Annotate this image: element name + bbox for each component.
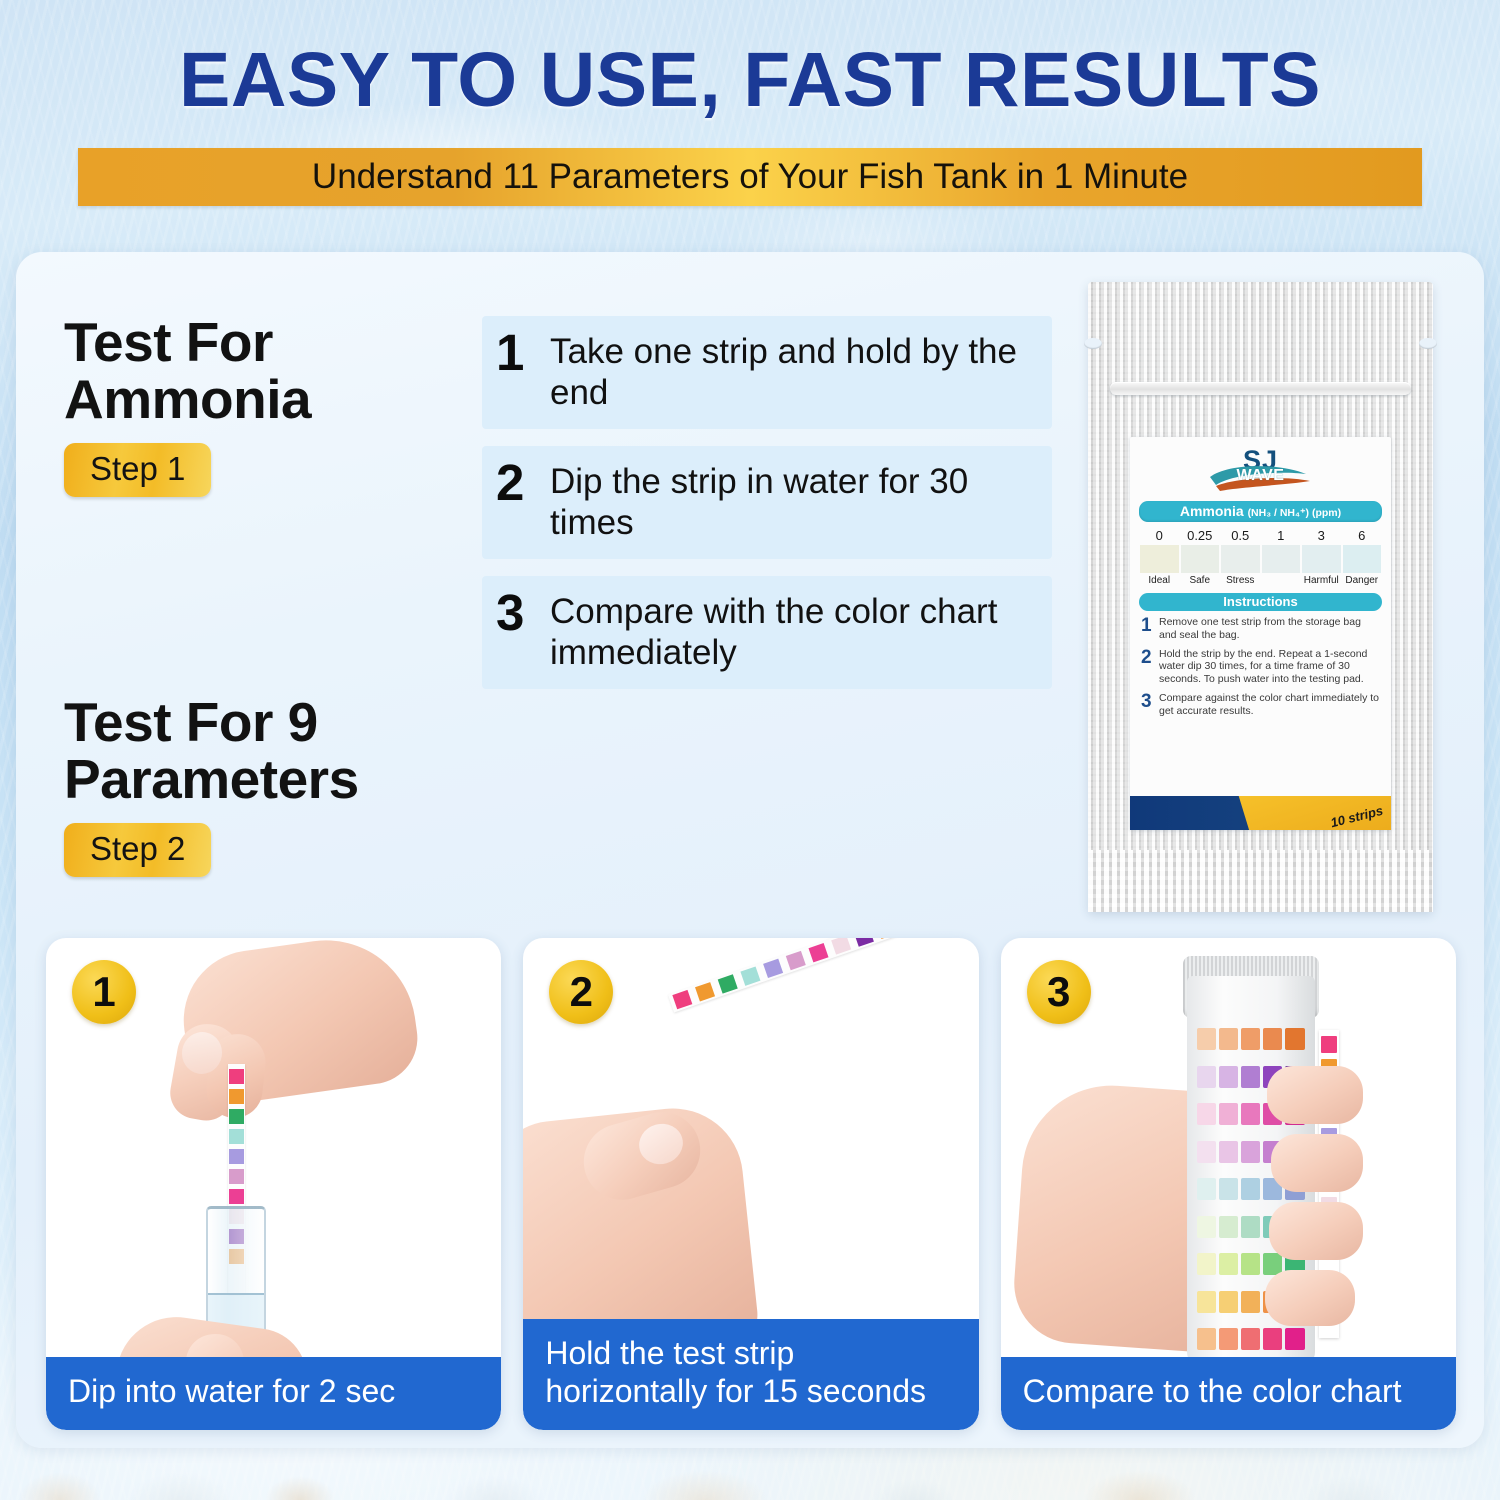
strip-pad: [229, 1189, 244, 1204]
heading-line-1: Test For 9: [64, 694, 359, 751]
strip-pad: [877, 938, 897, 939]
packet-instruction-row: 1 Remove one test strip from the storage…: [1139, 616, 1382, 642]
chart-swatch: [1263, 1028, 1282, 1050]
instruction-number: 3: [496, 589, 534, 638]
chart-swatch: [1197, 1328, 1216, 1350]
chart-swatch: [1219, 1178, 1238, 1200]
chart-swatch: [1219, 1216, 1238, 1238]
test-strip-diagonal: [668, 938, 922, 1012]
strip-pad: [695, 982, 715, 1001]
color-swatch: [1181, 545, 1220, 573]
subtitle-text: Understand 11 Parameters of Your Fish Ta…: [312, 157, 1188, 197]
finger: [1265, 1270, 1355, 1326]
subtitle-banner: Understand 11 Parameters of Your Fish Ta…: [78, 148, 1422, 206]
main-content-panel: Test For Ammonia Step 1 Test For 9 Param…: [16, 252, 1484, 1448]
card-badge-3: 3: [1027, 960, 1091, 1024]
card-caption-2: Hold the test strip horizontally for 15 …: [523, 1319, 978, 1430]
sj-wave-logo: SJ WAVE: [1139, 447, 1382, 499]
chart-swatch: [1197, 1178, 1216, 1200]
heading-line-2: Ammonia: [64, 371, 311, 428]
card-badge-2: 2: [549, 960, 613, 1024]
photo-card-dip[interactable]: 1 Dip into water for 2 sec: [46, 938, 501, 1430]
chart-swatch: [1219, 1141, 1238, 1163]
scale-value: 6: [1342, 528, 1383, 543]
chart-swatch: [1219, 1291, 1238, 1313]
strip-pad: [229, 1129, 244, 1144]
card-caption-3: Compare to the color chart: [1001, 1357, 1456, 1430]
chart-swatch: [1241, 1028, 1260, 1050]
step-badge-1: Step 1: [64, 443, 211, 497]
color-swatch: [1343, 545, 1382, 573]
packet-bottom-seal: [1088, 850, 1433, 912]
strip-pad: [786, 951, 806, 970]
finger: [1269, 1202, 1363, 1260]
packet-label: SJ WAVE Ammonia (NH₃ / NH₄⁺) (ppm) 0 0.2…: [1130, 437, 1391, 830]
ammonia-swatch-row: [1139, 543, 1382, 573]
chart-swatch: [1219, 1103, 1238, 1125]
strip-pad: [229, 1069, 244, 1084]
scale-label: Ideal: [1139, 575, 1180, 586]
strip-pad: [718, 974, 738, 993]
tear-notch-right-icon: [1419, 338, 1437, 349]
chart-swatch: [1197, 1216, 1216, 1238]
strip-pad: [763, 959, 783, 978]
product-packet: SJ WAVE Ammonia (NH₃ / NH₄⁺) (ppm) 0 0.2…: [1088, 282, 1433, 912]
instruction-row: 1 Take one strip and hold by the end: [482, 316, 1052, 429]
instruction-number: 2: [496, 459, 534, 508]
packet-instruction-number: 3: [1141, 692, 1153, 718]
chart-swatch: [1219, 1328, 1238, 1350]
photo-card-hold[interactable]: 2 Hold the test strip horizontally for 1…: [523, 938, 978, 1430]
scale-label: Harmful: [1301, 575, 1342, 586]
scale-value: 1: [1261, 528, 1302, 543]
chart-title-sub: (NH₃ / NH₄⁺) (ppm): [1248, 507, 1342, 519]
photo-card-row: 1 Dip into water for 2 sec 2 Hold the te…: [46, 938, 1456, 1430]
strip-pad: [854, 938, 874, 947]
ammonia-scale-values: 0 0.25 0.5 1 3 6: [1139, 528, 1382, 543]
color-swatch: [1302, 545, 1341, 573]
packet-instruction-row: 2 Hold the strip by the end. Repeat a 1-…: [1139, 648, 1382, 686]
strip-pad: [673, 990, 693, 1009]
ammonia-scale-labels: Ideal Safe Stress Harmful Danger: [1139, 573, 1382, 586]
packet-instruction-text: Hold the strip by the end. Repeat a 1-se…: [1159, 648, 1380, 686]
instruction-text: Take one strip and hold by the end: [550, 329, 1034, 414]
strip-pad: [229, 1149, 244, 1164]
heading-line-1: Test For: [64, 314, 311, 371]
strip-pad: [229, 1169, 244, 1184]
instruction-text: Dip the strip in water for 30 times: [550, 459, 1034, 544]
strip-pad: [229, 1109, 244, 1124]
scale-value: 0.5: [1220, 528, 1261, 543]
strip-pad: [741, 966, 761, 985]
chart-swatch: [1197, 1028, 1216, 1050]
packet-instruction-text: Compare against the color chart immediat…: [1159, 692, 1380, 718]
strip-pad: [832, 938, 852, 955]
instruction-row: 2 Dip the strip in water for 30 times: [482, 446, 1052, 559]
finger: [1271, 1134, 1363, 1192]
chart-swatch: [1197, 1103, 1216, 1125]
photo-card-compare[interactable]: 3 Compare to the color chart: [1001, 938, 1456, 1430]
scale-label: Danger: [1342, 575, 1383, 586]
logo-text-wave: WAVE: [1237, 467, 1285, 485]
tear-notch-left-icon: [1084, 338, 1102, 349]
heading-line-2: Parameters: [64, 751, 359, 808]
packet-instruction-number: 1: [1141, 616, 1153, 642]
scale-label: Stress: [1220, 575, 1261, 586]
scale-value: 0: [1139, 528, 1180, 543]
chart-swatch: [1219, 1066, 1238, 1088]
scale-value: 3: [1301, 528, 1342, 543]
instruction-number: 1: [496, 329, 534, 378]
packet-instructions-title: Instructions: [1139, 593, 1382, 611]
packet-instruction-row: 3 Compare against the color chart immedi…: [1139, 692, 1382, 718]
finger: [1267, 1066, 1363, 1124]
card-badge-1: 1: [72, 960, 136, 1024]
chart-swatch: [1219, 1253, 1238, 1275]
strip-pad: [229, 1089, 244, 1104]
strip-pad: [809, 943, 829, 962]
chart-swatch: [1197, 1253, 1216, 1275]
color-swatch: [1221, 545, 1260, 573]
step-badge-2: Step 2: [64, 823, 211, 877]
zip-seal: [1110, 382, 1411, 395]
page-title: EASY TO USE, FAST RESULTS: [0, 36, 1500, 125]
packet-label-footer: 10 strips: [1130, 796, 1391, 830]
chart-row: [1197, 1028, 1305, 1050]
chart-swatch: [1285, 1028, 1304, 1050]
packet-instruction-number: 2: [1141, 648, 1153, 686]
card-caption-1: Dip into water for 2 sec: [46, 1357, 501, 1430]
fingers-group: [1245, 1048, 1355, 1348]
instruction-text: Compare with the color chart immediately: [550, 589, 1034, 674]
color-swatch: [1140, 545, 1179, 573]
scale-label: Safe: [1180, 575, 1221, 586]
scale-value: 0.25: [1180, 528, 1221, 543]
chart-swatch: [1219, 1028, 1238, 1050]
color-swatch: [1262, 545, 1301, 573]
ammonia-chart-title: Ammonia (NH₃ / NH₄⁺) (ppm): [1139, 501, 1382, 522]
chart-title-main: Ammonia: [1180, 503, 1244, 519]
section-heading-parameters: Test For 9 Parameters Step 2: [64, 694, 359, 877]
packet-instruction-text: Remove one test strip from the storage b…: [1159, 616, 1380, 642]
chart-swatch: [1197, 1291, 1216, 1313]
chart-swatch: [1197, 1141, 1216, 1163]
instruction-row: 3 Compare with the color chart immediate…: [482, 576, 1052, 689]
chart-swatch: [1197, 1066, 1216, 1088]
section-heading-ammonia: Test For Ammonia Step 1: [64, 314, 311, 497]
instruction-list: 1 Take one strip and hold by the end 2 D…: [482, 316, 1052, 706]
